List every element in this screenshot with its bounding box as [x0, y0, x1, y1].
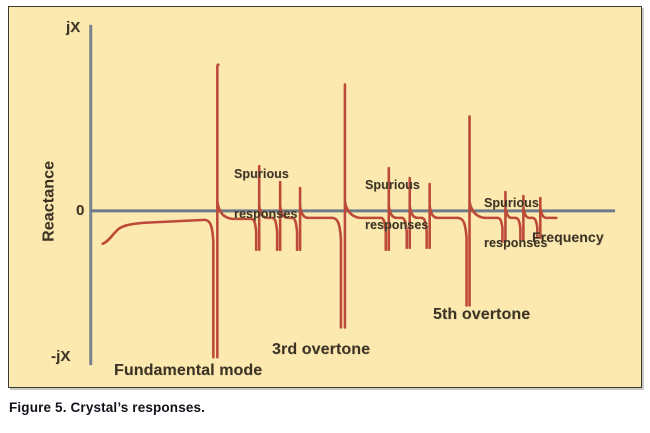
y-axis-top-label: jX [66, 20, 80, 36]
annotation-spurious-1-line2: responses [234, 208, 297, 221]
annotation-spurious-3: Spurious responses [484, 171, 547, 276]
y-axis-title: Reactance [42, 141, 59, 261]
figure-caption: Figure 5. Crystal’s responses. [9, 400, 205, 415]
curve-segment-fundamental [204, 220, 213, 357]
figure-root: jX -jX 0 Reactance Frequency Fundamental… [0, 0, 650, 433]
annotation-third-overtone: 3rd overtone [272, 342, 370, 359]
curve-segment-start [103, 220, 205, 244]
spurious-1c [292, 188, 332, 250]
y-axis-bottom-label: -jX [51, 349, 70, 365]
curve-segment-fifth-overtone [458, 218, 467, 306]
annotation-spurious-1-line1: Spurious [234, 168, 297, 181]
curve-segment-third-overtone [332, 218, 341, 327]
annotation-spurious-2: Spurious responses [365, 153, 428, 258]
annotation-spurious-3-line2: responses [484, 237, 547, 250]
annotation-spurious-2-line1: Spurious [365, 179, 428, 192]
annotation-spurious-2-line2: responses [365, 219, 428, 232]
annotation-spurious-1: Spurious responses [234, 142, 297, 247]
annotation-fifth-overtone: 5th overtone [433, 307, 530, 324]
curve-segment-fundamental-peak [217, 65, 218, 357]
annotation-spurious-3-line1: Spurious [484, 197, 547, 210]
annotation-fundamental-mode: Fundamental mode [114, 363, 262, 380]
chart-panel: jX -jX 0 Reactance Frequency Fundamental… [8, 6, 642, 388]
y-axis-zero-label: 0 [76, 203, 84, 219]
